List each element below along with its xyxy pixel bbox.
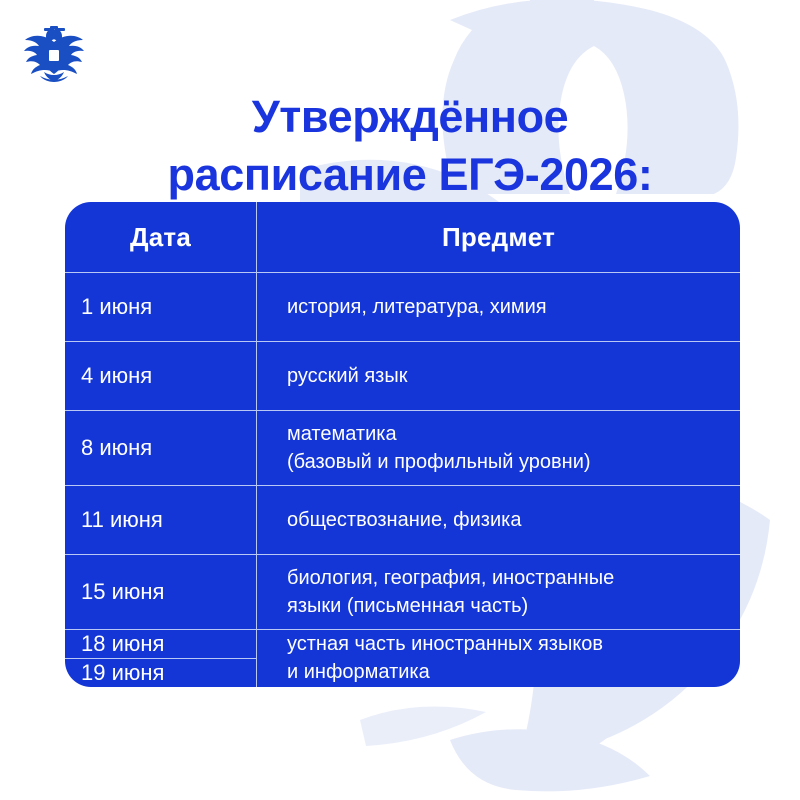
cell-date: 15 июня	[65, 555, 257, 629]
table-row: 8 июня математика (базовый и профильный …	[65, 410, 740, 485]
cell-subject-line-2: и информатика	[287, 661, 430, 683]
cell-subject: биология, география, иностранные языки (…	[257, 555, 740, 629]
table-merged-row-group: 18 июня 19 июня устная часть иностранных…	[65, 629, 740, 687]
logo	[22, 26, 86, 82]
merged-date-column: 18 июня 19 июня	[65, 630, 257, 687]
cell-subject: история, литература, химия	[257, 273, 740, 341]
cell-date: 19 июня	[65, 658, 256, 687]
column-header-subject: Предмет	[257, 202, 740, 272]
cell-subject-line-1: математика	[287, 423, 397, 445]
cell-subject-line-2: (базовый и профильный уровни)	[287, 451, 591, 473]
column-header-date: Дата	[65, 202, 257, 272]
cell-date: 18 июня	[65, 630, 256, 658]
cell-subject-line-1: биология, география, иностранные	[287, 567, 614, 589]
table-row: 1 июня история, литература, химия	[65, 272, 740, 341]
cell-date: 8 июня	[65, 411, 257, 485]
cell-subject-merged: устная часть иностранных языков и информ…	[257, 630, 740, 687]
table-row: 11 июня обществознание, физика	[65, 485, 740, 554]
schedule-table: Дата Предмет 1 июня история, литература,…	[65, 202, 740, 687]
cell-date: 4 июня	[65, 342, 257, 410]
cell-date: 1 июня	[65, 273, 257, 341]
table-header-row: Дата Предмет	[65, 202, 740, 272]
cell-date: 11 июня	[65, 486, 257, 554]
cell-subject: обществознание, физика	[257, 486, 740, 554]
table-row: 15 июня биология, география, иностранные…	[65, 554, 740, 629]
table-row: 4 июня русский язык	[65, 341, 740, 410]
cell-subject-line-1: устная часть иностранных языков	[287, 633, 603, 655]
page-title-line-2: расписание ЕГЭ-2026:	[60, 146, 760, 204]
page-title: Утверждённое расписание ЕГЭ-2026:	[60, 88, 760, 203]
cell-subject: русский язык	[257, 342, 740, 410]
double-headed-eagle-icon	[22, 26, 86, 82]
cell-subject-line-2: языки (письменная часть)	[287, 595, 528, 617]
page-title-line-1: Утверждённое	[60, 88, 760, 146]
cell-subject: математика (базовый и профильный уровни)	[257, 411, 740, 485]
